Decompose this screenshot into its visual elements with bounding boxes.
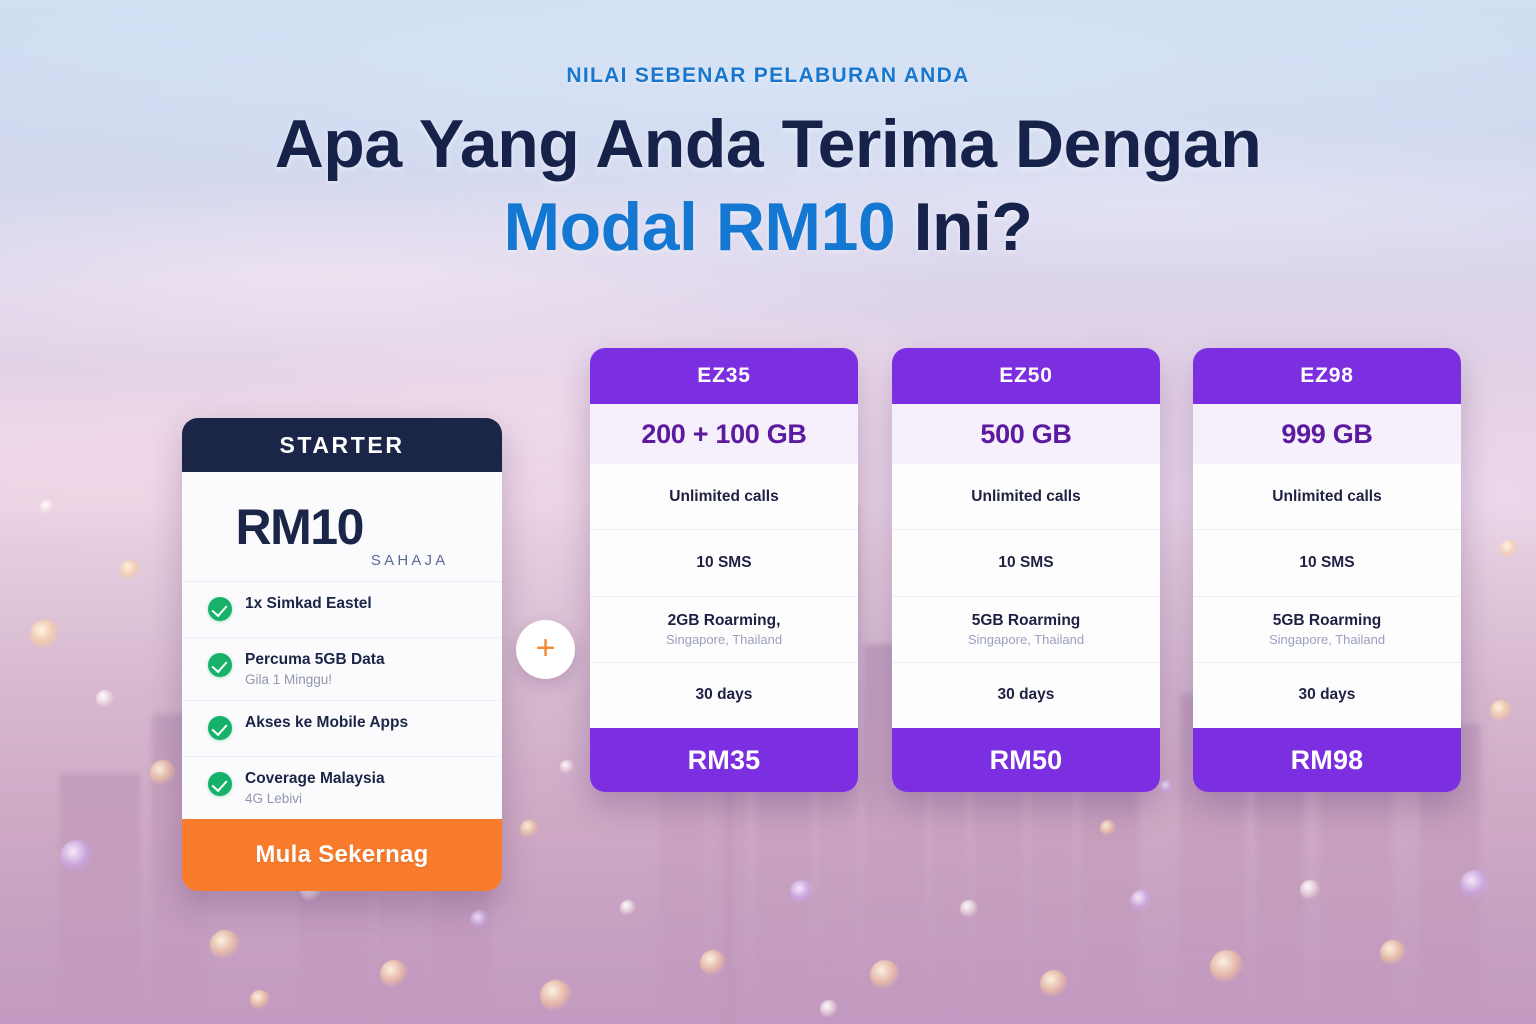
list-item: 5GB Roarming Singapore, Thailand [892,597,1160,663]
feature-note: Gila 1 Minggu! [245,672,385,687]
plan-row-main: Unlimited calls [1272,488,1381,506]
plan-feature-rows: Unlimited calls 10 SMS 5GB Roarming Sing… [1193,464,1461,728]
starter-plan-card[interactable]: STARTER RM10 SAHAJA 1x Simkad Eastel Per… [182,418,502,891]
starter-price: RM10 [236,498,363,556]
plan-price[interactable]: RM98 [1193,728,1461,792]
plus-icon: + [536,631,556,665]
plan-row-main: 5GB Roarming [1273,612,1382,630]
plan-row-sub: Singapore, Thailand [666,632,782,647]
plan-row-main: 30 days [696,686,753,704]
plan-name: EZ50 [892,348,1160,404]
check-circle-icon [208,597,232,621]
list-item: Akses ke Mobile Apps [182,701,502,757]
plan-row-main: 30 days [998,686,1055,704]
list-item: Unlimited calls [892,464,1160,530]
starter-card-body: RM10 SAHAJA 1x Simkad Eastel Percuma 5GB… [182,472,502,819]
page-title-line2: Modal RM10 Ini? [0,193,1536,262]
feature-title: Percuma 5GB Data [245,651,385,669]
eyebrow-text: NILAI SEBENAR PELABURAN ANDA [0,64,1536,88]
promo-banner: NILAI SEBENAR PELABURAN ANDA Apa Yang An… [0,0,1536,1024]
plan-row-main: Unlimited calls [971,488,1080,506]
plan-feature-rows: Unlimited calls 10 SMS 2GB Roarming, Sin… [590,464,858,728]
feature-title: Coverage Malaysia [245,770,385,788]
plan-card-ez35[interactable]: EZ35 200 + 100 GB Unlimited calls 10 SMS… [590,348,858,792]
list-item: 30 days [590,663,858,728]
start-now-button[interactable]: Mula Sekernag [182,819,502,891]
plan-data-allowance: 200 + 100 GB [590,404,858,464]
feature-title: Akses ke Mobile Apps [245,714,408,732]
plan-name: EZ98 [1193,348,1461,404]
hero-header: NILAI SEBENAR PELABURAN ANDA Apa Yang An… [0,64,1536,263]
plan-row-main: Unlimited calls [669,488,778,506]
list-item: 10 SMS [590,530,858,596]
page-title-rest: Ini? [895,189,1032,265]
list-item: 10 SMS [1193,530,1461,596]
plan-card-ez50[interactable]: EZ50 500 GB Unlimited calls 10 SMS 5GB R… [892,348,1160,792]
plan-row-sub: Singapore, Thailand [1269,632,1385,647]
plan-card-ez98[interactable]: EZ98 999 GB Unlimited calls 10 SMS 5GB R… [1193,348,1461,792]
list-item: 2GB Roarming, Singapore, Thailand [590,597,858,663]
plan-data-allowance: 999 GB [1193,404,1461,464]
page-title-accent: Modal RM10 [504,189,896,265]
check-circle-icon [208,716,232,740]
list-item: Coverage Malaysia 4G Lebivi [182,757,502,819]
starter-price-suffix: SAHAJA [371,552,449,581]
plan-row-sub: Singapore, Thailand [968,632,1084,647]
list-item: Percuma 5GB Data Gila 1 Minggu! [182,638,502,701]
plus-badge: + [516,620,575,679]
check-circle-icon [208,772,232,796]
feature-note: 4G Lebivi [245,791,385,806]
plan-data-allowance: 500 GB [892,404,1160,464]
plan-price[interactable]: RM50 [892,728,1160,792]
list-item: 1x Simkad Eastel [182,582,502,638]
feature-title: 1x Simkad Eastel [245,595,372,613]
list-item: 30 days [1193,663,1461,728]
plan-row-main: 2GB Roarming, [668,612,781,630]
starter-card-header: STARTER [182,418,502,472]
list-item: 30 days [892,663,1160,728]
plan-row-main: 10 SMS [1299,554,1354,572]
starter-price-row: RM10 SAHAJA [182,472,502,582]
plan-row-main: 30 days [1299,686,1356,704]
plan-row-main: 5GB Roarming [972,612,1081,630]
plan-row-main: 10 SMS [696,554,751,572]
plan-price[interactable]: RM35 [590,728,858,792]
page-title-line1: Apa Yang Anda Terima Dengan [0,110,1536,179]
check-circle-icon [208,653,232,677]
plan-feature-rows: Unlimited calls 10 SMS 5GB Roarming Sing… [892,464,1160,728]
list-item: Unlimited calls [1193,464,1461,530]
plan-row-main: 10 SMS [998,554,1053,572]
list-item: 5GB Roarming Singapore, Thailand [1193,597,1461,663]
list-item: Unlimited calls [590,464,858,530]
list-item: 10 SMS [892,530,1160,596]
plan-name: EZ35 [590,348,858,404]
